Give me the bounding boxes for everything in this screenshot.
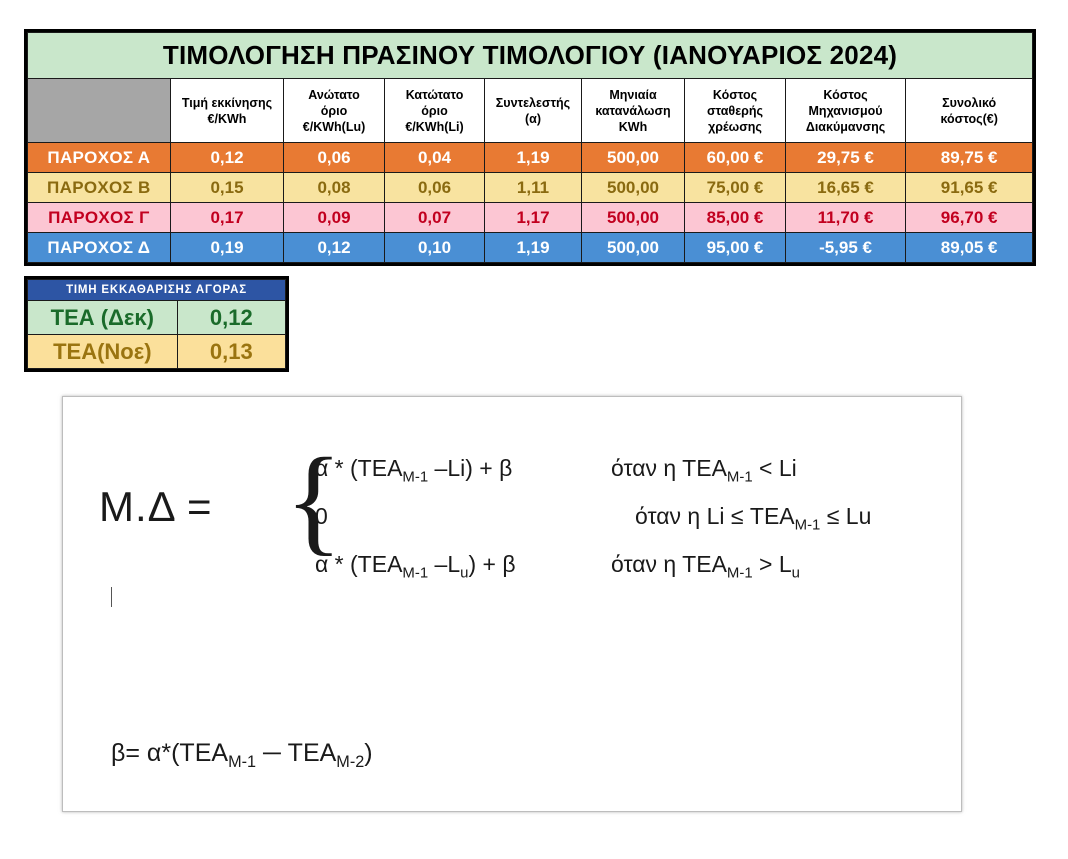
header-cell-consumption: Μηνιαία κατανάλωση KWh bbox=[581, 79, 685, 143]
tea-header-label: ΤΙΜΗ ΕΚΚΑΘΑΡΙΣΗΣ ΑΓΟΡΑΣ bbox=[28, 280, 286, 301]
cell-consumption: 500,00 bbox=[581, 203, 685, 233]
cell-consumption: 500,00 bbox=[581, 173, 685, 203]
header-line: Κατώτατο bbox=[385, 87, 485, 103]
header-line: κατανάλωση bbox=[582, 103, 685, 119]
header-line: Μηνιαία bbox=[582, 87, 685, 103]
cell-upper-limit: 0,12 bbox=[284, 233, 385, 263]
row-label: ΠΑΡΟΧΟΣ Γ bbox=[28, 203, 171, 233]
formula-case-2-condition: όταν η Li ≤ ΤΕΑM-1 ≤ Lu bbox=[635, 503, 871, 534]
header-line: Κόστος bbox=[685, 87, 785, 103]
header-line: (α) bbox=[485, 111, 580, 127]
case-3-expr-sub: Μ-1 bbox=[402, 565, 428, 582]
tea-row-december: ΤΕΑ (Δεκ) 0,12 bbox=[28, 301, 286, 335]
cell-start-price: 0,17 bbox=[170, 203, 284, 233]
cell-upper-limit: 0,08 bbox=[284, 173, 385, 203]
formula-case-3-condition: όταν η ΤΕΑM-1 > Lu bbox=[611, 551, 800, 582]
header-cell-start-price: Τιμή εκκίνησης €/KWh bbox=[170, 79, 284, 143]
header-cell-total-cost: Συνολικό κόστος(€) bbox=[906, 79, 1033, 143]
case-3-cond-post-sub: u bbox=[792, 565, 800, 582]
tea-header-row: ΤΙΜΗ ΕΚΚΑΘΑΡΙΣΗΣ ΑΓΟΡΑΣ bbox=[28, 280, 286, 301]
case-3-expr-post: –L bbox=[428, 551, 460, 577]
header-line: Συντελεστής bbox=[485, 95, 580, 111]
market-clearing-price-table: ΤΙΜΗ ΕΚΚΑΘΑΡΙΣΗΣ ΑΓΟΡΑΣ ΤΕΑ (Δεκ) 0,12 Τ… bbox=[27, 279, 286, 369]
case-1-cond-pre: όταν η ΤΕΑ bbox=[611, 455, 727, 481]
beta-sub-1: M-1 bbox=[228, 753, 256, 771]
pricing-table: ΤΙΜΟΛΟΓΗΣΗ ΠΡΑΣΙΝΟΥ ΤΙΜΟΛΟΓΙΟΥ (ΙΑΝΟΥΑΡΙ… bbox=[27, 32, 1033, 263]
table-title-row: ΤΙΜΟΛΟΓΗΣΗ ΠΡΑΣΙΝΟΥ ΤΙΜΟΛΟΓΙΟΥ (ΙΑΝΟΥΑΡΙ… bbox=[28, 33, 1033, 79]
cell-fixed-cost: 75,00 € bbox=[685, 173, 786, 203]
cell-adjustment-cost: 16,65 € bbox=[785, 173, 906, 203]
cell-lower-limit: 0,06 bbox=[384, 173, 485, 203]
cell-lower-limit: 0,07 bbox=[384, 203, 485, 233]
cell-total-cost: 89,05 € bbox=[906, 233, 1033, 263]
header-line: Κόστος bbox=[786, 87, 906, 103]
tea-row-november: ΤΕΑ(Νοε) 0,13 bbox=[28, 335, 286, 369]
cell-coefficient: 1,11 bbox=[485, 173, 581, 203]
cell-total-cost: 91,65 € bbox=[906, 173, 1033, 203]
case-1-cond-post: < Li bbox=[753, 455, 797, 481]
header-cell-fixed-cost: Κόστος σταθερής χρέωσης bbox=[685, 79, 786, 143]
cell-lower-limit: 0,10 bbox=[384, 233, 485, 263]
case-1-expr-sub: Μ-1 bbox=[402, 469, 428, 486]
cell-consumption: 500,00 bbox=[581, 233, 685, 263]
row-label: ΠΑΡΟΧΟΣ Β bbox=[28, 173, 171, 203]
header-line: σταθερής bbox=[685, 103, 785, 119]
header-cell-adjustment-cost: Κόστος Μηχανισμού Διακύμανσης bbox=[785, 79, 906, 143]
table-header-row: Τιμή εκκίνησης €/KWh Ανώτατο όριο €/KWh(… bbox=[28, 79, 1033, 143]
case-1-cond-sub: M-1 bbox=[727, 469, 753, 486]
header-line: κόστος(€) bbox=[906, 111, 1032, 127]
header-line: Συνολικό bbox=[906, 95, 1032, 111]
cell-consumption: 500,00 bbox=[581, 143, 685, 173]
formula-left-hand-side: Μ.Δ = bbox=[99, 483, 213, 531]
row-label: ΠΑΡΟΧΟΣ Α bbox=[28, 143, 171, 173]
table-row: ΠΑΡΟΧΟΣ Α 0,12 0,06 0,04 1,19 500,00 60,… bbox=[28, 143, 1033, 173]
cell-coefficient: 1,19 bbox=[485, 143, 581, 173]
pricing-table-container: ΤΙΜΟΛΟΓΗΣΗ ΠΡΑΣΙΝΟΥ ΤΙΜΟΛΟΓΙΟΥ (ΙΑΝΟΥΑΡΙ… bbox=[24, 29, 1036, 266]
formula-case-1-expression: α * (ΤΕΑΜ-1 –Li) + β bbox=[315, 455, 512, 486]
tea-value-november: 0,13 bbox=[177, 335, 285, 369]
cell-total-cost: 89,75 € bbox=[906, 143, 1033, 173]
header-line: Μηχανισμού bbox=[786, 103, 906, 119]
tea-value-december: 0,12 bbox=[177, 301, 285, 335]
cell-upper-limit: 0,09 bbox=[284, 203, 385, 233]
beta-formula: β= α*(ΤΕΑM-1 ─ ΤΕΑM-2) bbox=[111, 739, 373, 772]
cell-total-cost: 96,70 € bbox=[906, 203, 1033, 233]
case-2-expr-pre: 0 bbox=[315, 503, 328, 529]
case-2-cond-post: ≤ Lu bbox=[820, 503, 871, 529]
cell-start-price: 0,12 bbox=[170, 143, 284, 173]
formula-case-3-expression: α * (ΤΕΑΜ-1 –Lu) + β bbox=[315, 551, 516, 582]
header-line: €/KWh(Li) bbox=[385, 119, 485, 135]
case-3-expr-pre: α * (ΤΕΑ bbox=[315, 551, 402, 577]
case-3-expr-tail: ) + β bbox=[468, 551, 515, 577]
table-row: ΠΑΡΟΧΟΣ Γ 0,17 0,09 0,07 1,17 500,00 85,… bbox=[28, 203, 1033, 233]
case-2-cond-sub: M-1 bbox=[795, 517, 821, 534]
formula-case-2-expression: 0 bbox=[315, 503, 328, 530]
header-line: χρέωσης bbox=[685, 119, 785, 135]
cell-coefficient: 1,19 bbox=[485, 233, 581, 263]
header-line: Διακύμανσης bbox=[786, 119, 906, 135]
cell-start-price: 0,15 bbox=[170, 173, 284, 203]
header-line: €/KWh(Lu) bbox=[284, 119, 384, 135]
case-1-expr-pre: α * (ΤΕΑ bbox=[315, 455, 402, 481]
cell-fixed-cost: 85,00 € bbox=[685, 203, 786, 233]
tea-label-november: ΤΕΑ(Νοε) bbox=[28, 335, 178, 369]
header-line: KWh bbox=[582, 119, 685, 135]
header-line: €/KWh bbox=[171, 111, 284, 127]
page-title: ΤΙΜΟΛΟΓΗΣΗ ΠΡΑΣΙΝΟΥ ΤΙΜΟΛΟΓΙΟΥ (ΙΑΝΟΥΑΡΙ… bbox=[28, 33, 1033, 79]
table-row: ΠΑΡΟΧΟΣ Β 0,15 0,08 0,06 1,11 500,00 75,… bbox=[28, 173, 1033, 203]
beta-mid: ─ ΤΕΑ bbox=[256, 739, 336, 767]
cell-adjustment-cost: -5,95 € bbox=[785, 233, 906, 263]
cell-fixed-cost: 95,00 € bbox=[685, 233, 786, 263]
cell-start-price: 0,19 bbox=[170, 233, 284, 263]
cell-upper-limit: 0,06 bbox=[284, 143, 385, 173]
beta-post: ) bbox=[364, 739, 372, 767]
cell-coefficient: 1,17 bbox=[485, 203, 581, 233]
beta-pre: β= α*(ΤΕΑ bbox=[111, 739, 228, 767]
formula-case-1-condition: όταν η ΤΕΑM-1 < Li bbox=[611, 455, 797, 486]
header-line: όριο bbox=[284, 103, 384, 119]
case-2-cond-pre: όταν η Li ≤ ΤΕΑ bbox=[635, 503, 795, 529]
header-line: Ανώτατο bbox=[284, 87, 384, 103]
header-cell-blank bbox=[28, 79, 171, 143]
beta-sub-2: M-2 bbox=[336, 753, 364, 771]
header-cell-upper-limit: Ανώτατο όριο €/KWh(Lu) bbox=[284, 79, 385, 143]
table-row: ΠΑΡΟΧΟΣ Δ 0,19 0,12 0,10 1,19 500,00 95,… bbox=[28, 233, 1033, 263]
case-3-cond-post: > L bbox=[753, 551, 792, 577]
header-cell-coefficient: Συντελεστής (α) bbox=[485, 79, 581, 143]
case-1-expr-post: –Li) + β bbox=[428, 455, 512, 481]
header-line: όριο bbox=[385, 103, 485, 119]
cell-lower-limit: 0,04 bbox=[384, 143, 485, 173]
case-3-cond-sub: M-1 bbox=[727, 565, 753, 582]
market-clearing-price-table-container: ΤΙΜΗ ΕΚΚΑΘΑΡΙΣΗΣ ΑΓΟΡΑΣ ΤΕΑ (Δεκ) 0,12 Τ… bbox=[24, 276, 289, 372]
cell-adjustment-cost: 29,75 € bbox=[785, 143, 906, 173]
tea-label-december: ΤΕΑ (Δεκ) bbox=[28, 301, 178, 335]
header-line: Τιμή εκκίνησης bbox=[171, 95, 284, 111]
cell-adjustment-cost: 11,70 € bbox=[785, 203, 906, 233]
text-cursor-caret bbox=[111, 587, 112, 607]
cell-fixed-cost: 60,00 € bbox=[685, 143, 786, 173]
formula-panel: Μ.Δ = { α * (ΤΕΑΜ-1 –Li) + β όταν η ΤΕΑM… bbox=[62, 396, 962, 812]
row-label: ΠΑΡΟΧΟΣ Δ bbox=[28, 233, 171, 263]
header-cell-lower-limit: Κατώτατο όριο €/KWh(Li) bbox=[384, 79, 485, 143]
case-3-cond-pre: όταν η ΤΕΑ bbox=[611, 551, 727, 577]
